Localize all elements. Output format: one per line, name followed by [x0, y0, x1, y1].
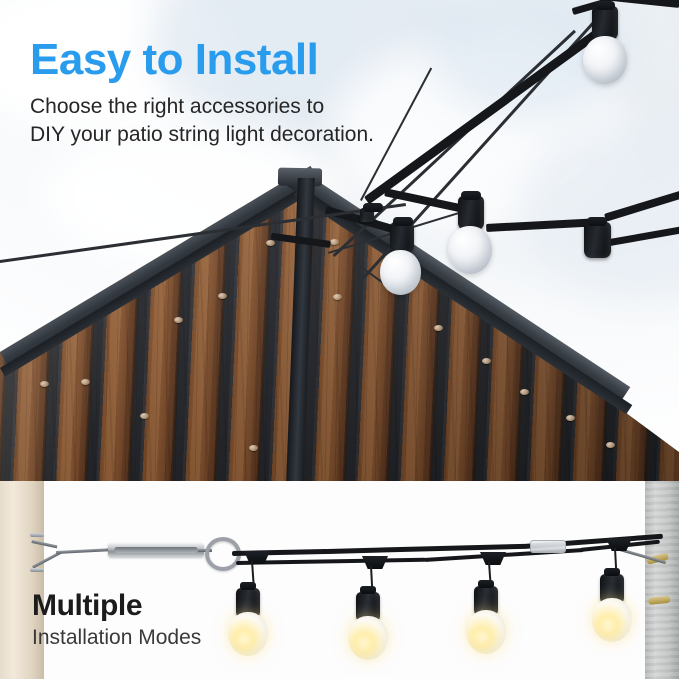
- screw-head-icon: [434, 325, 443, 331]
- bulb-socket: [458, 196, 484, 230]
- light-bulb: [448, 226, 492, 274]
- cable-clamp: [30, 533, 44, 537]
- screw-head-icon: [333, 294, 342, 300]
- bottom-subtitle: Installation Modes: [32, 627, 201, 648]
- screw-head-icon: [606, 442, 615, 448]
- light-bulb: [466, 610, 506, 654]
- screw-head-icon: [174, 317, 183, 323]
- light-bulb: [348, 616, 388, 660]
- cable-clamp: [30, 568, 44, 572]
- screw-head-icon: [520, 389, 529, 395]
- page-subtitle: Choose the right accessories to DIY your…: [30, 93, 374, 148]
- string-light-cable: [364, 21, 612, 205]
- cable-junction: [360, 208, 374, 222]
- page-title: Easy to Install: [30, 38, 318, 82]
- light-bulb: [592, 598, 632, 642]
- bottom-scene-panel: [0, 481, 679, 679]
- bottom-title: Multiple: [32, 591, 142, 621]
- string-light-cable: [604, 188, 679, 222]
- screw-head-icon: [81, 379, 90, 385]
- turnbuckle-icon: [108, 543, 204, 557]
- product-infographic: Easy to Install Choose the right accesso…: [0, 0, 679, 679]
- screw-head-icon: [266, 240, 275, 246]
- screw-head-icon: [218, 293, 227, 299]
- light-bulb: [380, 250, 421, 295]
- string-light-cable: [604, 226, 679, 247]
- bulb-socket: [390, 222, 414, 253]
- cable-clip: [530, 540, 566, 553]
- light-bulb: [583, 36, 627, 84]
- bulb-socket: [592, 6, 618, 40]
- screw-head-icon: [249, 445, 258, 451]
- empty-bulb-socket: [584, 222, 611, 258]
- cloud-shape: [520, 120, 679, 300]
- turnbuckle-slot: [114, 547, 198, 553]
- screw-head-icon: [140, 413, 149, 419]
- light-bulb: [228, 612, 268, 656]
- screw-head-icon: [40, 381, 49, 387]
- screw-head-icon: [482, 358, 491, 364]
- screw-head-icon: [566, 415, 575, 421]
- concrete-post: [645, 481, 679, 679]
- top-scene-panel: Easy to Install Choose the right accesso…: [0, 0, 679, 481]
- screw-head-icon: [330, 239, 339, 245]
- wood-post: [0, 481, 44, 679]
